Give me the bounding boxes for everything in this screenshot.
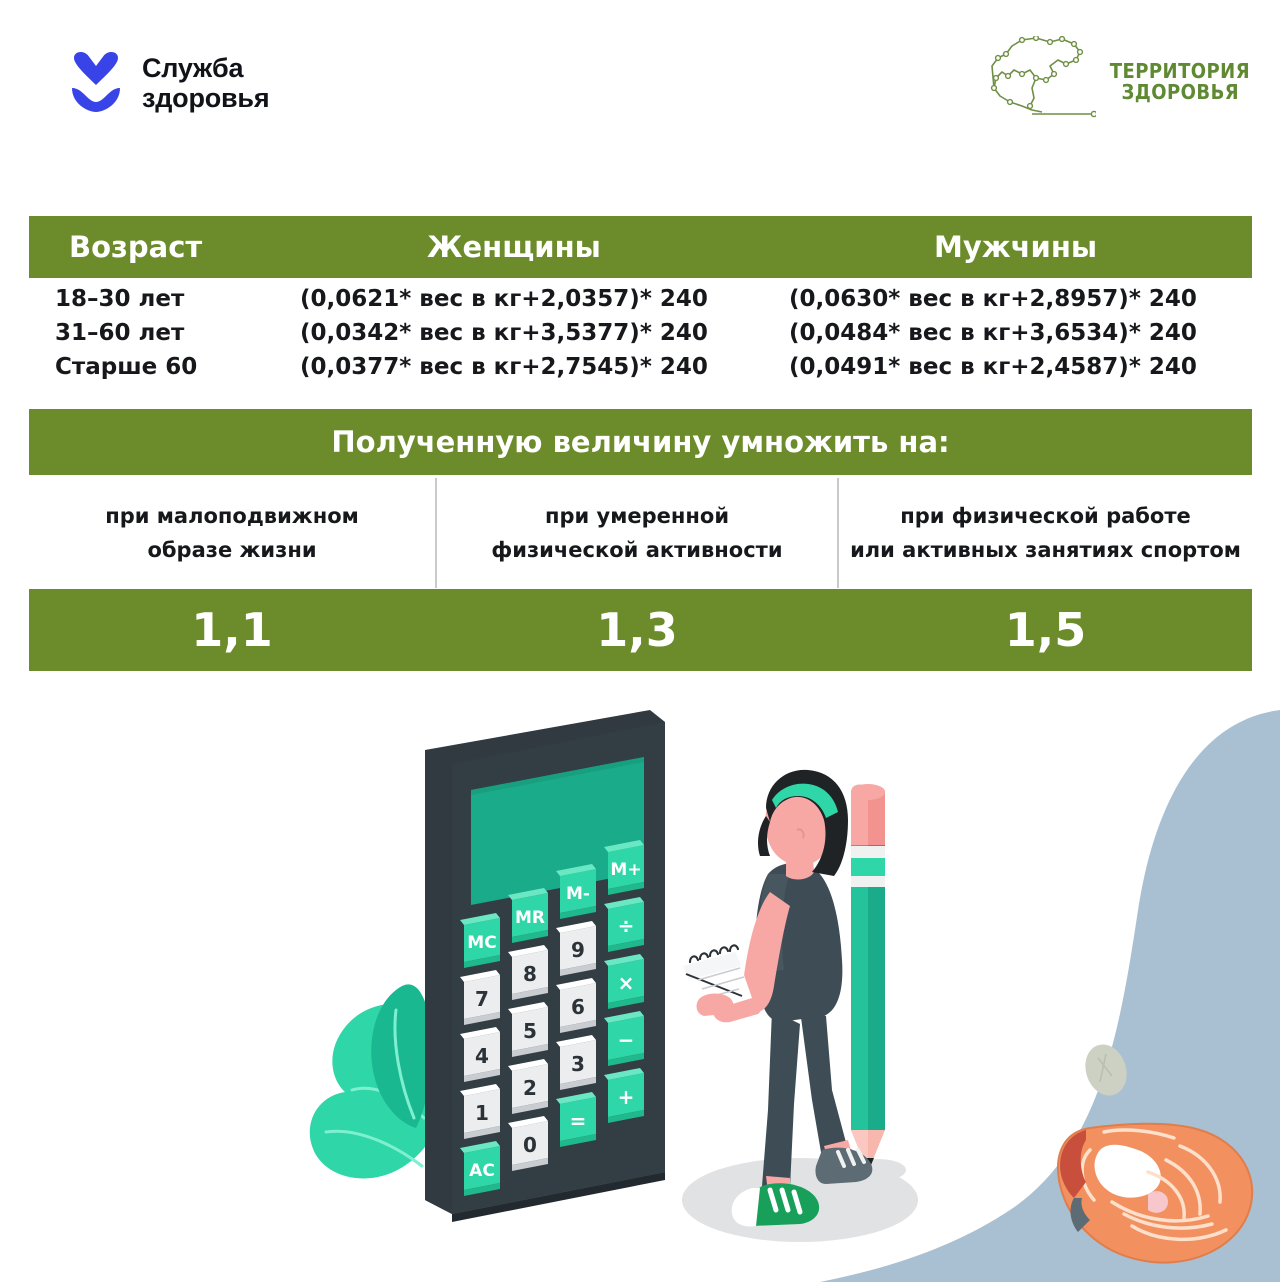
desc-line-2: образе жизни: [147, 538, 316, 562]
logo-line-1: ТЕРРИТОРИЯ: [1110, 61, 1250, 82]
calc-key-plus[interactable]: +: [604, 1068, 644, 1123]
multiplier-values-row: 1,1 1,3 1,5: [29, 589, 1252, 671]
illustration-area: MC MR M-: [0, 680, 1280, 1282]
pencil-illustration: [851, 784, 885, 1172]
desc-line-2: физической активности: [491, 538, 782, 562]
desc-line-1: при физической работе: [900, 504, 1191, 528]
svg-text:×: ×: [618, 971, 635, 995]
svg-text:÷: ÷: [618, 914, 635, 938]
multiply-banner-text: Полученную величину умножить на:: [331, 425, 949, 459]
table-body: 18–30 лет (0,0621* вес в кг+2,0357)* 240…: [29, 282, 1252, 392]
svg-text:−: −: [618, 1028, 635, 1052]
svg-text:=: =: [570, 1109, 587, 1133]
calc-key-7[interactable]: 7: [460, 970, 500, 1025]
svg-text:MR: MR: [515, 908, 545, 928]
svg-text:6: 6: [571, 995, 585, 1019]
desc-line-2: или активных занятиях спортом: [850, 538, 1241, 562]
calc-key-equals[interactable]: =: [556, 1092, 596, 1147]
calc-key-m-plus[interactable]: M+: [604, 840, 644, 895]
svg-text:M+: M+: [610, 860, 641, 880]
sluzhba-zdorovya-logo-text: Служба здоровья: [142, 53, 269, 113]
table-row: 18–30 лет (0,0621* вес в кг+2,0357)* 240…: [29, 282, 1252, 315]
calc-key-mr[interactable]: MR: [508, 888, 548, 943]
calculator-illustration: MC MR M-: [425, 710, 665, 1222]
desc-line-1: при умеренной: [545, 504, 729, 528]
territoriya-zdorovya-logo-text: ТЕРРИТОРИЯ ЗДОРОВЬЯ: [1102, 61, 1258, 103]
multiplier-description-moderate: при умеренной физической активности: [435, 478, 839, 588]
multiplier-value-moderate: 1,3: [435, 589, 839, 671]
multiplier-descriptions-row: при малоподвижном образе жизни при умере…: [29, 478, 1252, 588]
calc-key-5[interactable]: 5: [508, 1002, 548, 1057]
calc-key-6[interactable]: 6: [556, 978, 596, 1033]
svg-text:MC: MC: [467, 933, 496, 953]
multiplier-value-sedentary: 1,1: [29, 589, 435, 671]
table-header-row: Возраст Женщины Мужчины: [29, 216, 1252, 278]
svg-text:9: 9: [571, 938, 585, 962]
calc-key-3[interactable]: 3: [556, 1035, 596, 1090]
calc-key-divide[interactable]: ÷: [604, 897, 644, 952]
multiplier-description-sedentary: при малоподвижном образе жизни: [29, 478, 435, 588]
calc-key-1[interactable]: 1: [460, 1084, 500, 1139]
cell-men-formula: (0,0491* вес в кг+2,4587)* 240: [789, 350, 1197, 383]
calc-key-9[interactable]: 9: [556, 921, 596, 976]
cell-men-formula: (0,0630* вес в кг+2,8957)* 240: [789, 282, 1197, 315]
territoriya-zdorovya-logo: ТЕРРИТОРИЯ ЗДОРОВЬЯ: [988, 36, 1258, 127]
table-header-men: Мужчины: [934, 216, 1097, 278]
svg-text:4: 4: [475, 1044, 489, 1068]
table-header-age: Возраст: [69, 216, 202, 278]
calc-key-multiply[interactable]: ×: [604, 954, 644, 1009]
heart-smile-icon: [66, 52, 126, 114]
cell-women-formula: (0,0342* вес в кг+3,5377)* 240: [300, 316, 708, 349]
cell-men-formula: (0,0484* вес в кг+3,6534)* 240: [789, 316, 1197, 349]
multiplier-description-active: при физической работе или активных занят…: [839, 478, 1252, 588]
calc-key-m-minus[interactable]: M-: [556, 864, 596, 919]
multiplier-value-active: 1,5: [839, 589, 1252, 671]
cell-age: 18–30 лет: [55, 282, 184, 315]
svg-text:AC: AC: [469, 1161, 495, 1181]
multiply-banner: Полученную величину умножить на:: [29, 409, 1252, 475]
infographic-page: Служба здоровья: [0, 0, 1280, 1282]
leaves-decoration: [310, 984, 443, 1178]
cell-age: 31–60 лет: [55, 316, 184, 349]
cell-women-formula: (0,0377* вес в кг+2,7545)* 240: [300, 350, 708, 383]
svg-text:3: 3: [571, 1052, 585, 1076]
calc-key-2[interactable]: 2: [508, 1059, 548, 1114]
svg-text:2: 2: [523, 1076, 537, 1100]
calc-key-ac[interactable]: AC: [460, 1141, 500, 1196]
header: Служба здоровья: [0, 0, 1280, 180]
table-row: Старше 60 (0,0377* вес в кг+2,7545)* 240…: [29, 350, 1252, 383]
svg-text:7: 7: [475, 987, 489, 1011]
table-row: 31–60 лет (0,0342* вес в кг+3,5377)* 240…: [29, 316, 1252, 349]
cell-age: Старше 60: [55, 350, 197, 383]
calc-key-minus[interactable]: −: [604, 1011, 644, 1066]
svg-text:M-: M-: [566, 884, 590, 904]
calc-key-4[interactable]: 4: [460, 1027, 500, 1082]
woman-with-notebook-illustration: [683, 770, 872, 1227]
desc-line-1: при малоподвижном: [105, 504, 359, 528]
logo-line-2: ЗДОРОВЬЯ: [1121, 82, 1239, 103]
cell-women-formula: (0,0621* вес в кг+2,0357)* 240: [300, 282, 708, 315]
svg-text:+: +: [618, 1085, 635, 1109]
svg-text:0: 0: [523, 1133, 537, 1157]
svg-text:1: 1: [475, 1101, 489, 1125]
region-map-outline-icon: [988, 36, 1096, 127]
sluzhba-zdorovya-logo: Служба здоровья: [66, 52, 269, 114]
calc-key-0[interactable]: 0: [508, 1116, 548, 1171]
table-header-women: Женщины: [427, 216, 601, 278]
svg-text:5: 5: [523, 1019, 537, 1043]
calc-key-8[interactable]: 8: [508, 945, 548, 1000]
svg-text:8: 8: [523, 962, 537, 986]
calc-key-mc[interactable]: MC: [460, 913, 500, 968]
